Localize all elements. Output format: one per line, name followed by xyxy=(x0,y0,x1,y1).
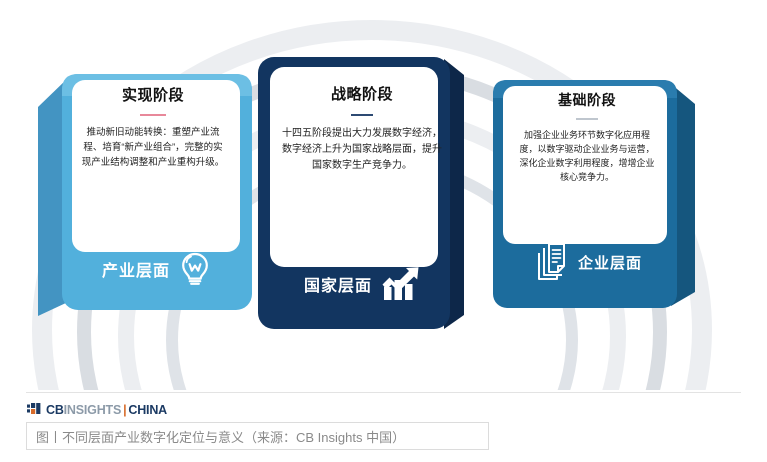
card-deck: 实现阶段 推动新旧动能转换：重塑产业流程、培育“新产业组合”，完整的实现产业结构… xyxy=(0,0,767,390)
card-a-footer: 产业层面 xyxy=(82,250,232,288)
growth-chart-icon xyxy=(380,265,422,303)
card-a-divider xyxy=(140,114,166,116)
figure-canvas: 实现阶段 推动新旧动能转换：重塑产业流程、培育“新产业组合”，完整的实现产业结构… xyxy=(0,0,767,462)
figure-caption: 图丨不同层面产业数字化定位与意义（来源：CB Insights 中国） xyxy=(26,422,489,450)
card-b-body: 十四五阶段提出大力发展数字经济，数字经济上升为国家战略层面，提升国家数字生产竞争… xyxy=(282,126,442,174)
card-industry-layer[interactable]: 实现阶段 推动新旧动能转换：重塑产业流程、培育“新产业组合”，完整的实现产业结构… xyxy=(36,62,266,322)
card-a-text-panel: 实现阶段 推动新旧动能转换：重塑产业流程、培育“新产业组合”，完整的实现产业结构… xyxy=(79,84,227,170)
card-c-body: 加强企业业务环节数字化应用程度，以数字驱动企业业务与运营，深化企业数字利用程度，… xyxy=(517,128,657,184)
card-a-footer-label: 产业层面 xyxy=(102,257,170,281)
card-b-footer-label: 国家层面 xyxy=(304,272,372,296)
logo-cb: CB xyxy=(46,403,64,417)
card-a-title: 实现阶段 xyxy=(79,84,227,105)
card-c-footer-label: 企业层面 xyxy=(578,252,642,273)
lightbulb-icon xyxy=(178,250,212,288)
logo-insights: INSIGHTS xyxy=(64,403,121,417)
card-b-divider xyxy=(351,114,373,116)
cb-insights-china-logo: CBINSIGHTS|CHINA xyxy=(27,403,167,417)
card-enterprise-layer[interactable]: 基础阶段 加强企业业务环节数字化应用程度，以数字驱动企业业务与运营，深化企业数字… xyxy=(487,70,703,320)
horizontal-divider xyxy=(26,392,741,393)
card-national-layer[interactable]: 战略阶段 十四五阶段提出大力发展数字经济，数字经济上升为国家战略层面，提升国家数… xyxy=(248,53,474,338)
figure-caption-text: 图丨不同层面产业数字化定位与意义（来源：CB Insights 中国） xyxy=(36,427,405,446)
card-b-title: 战略阶段 xyxy=(282,83,442,104)
card-c-divider xyxy=(576,118,598,120)
card-a-body: 推动新旧动能转换：重塑产业流程、培育“新产业组合”，完整的实现产业结构调整和产业… xyxy=(79,125,227,170)
logo-wordmark: CBINSIGHTS|CHINA xyxy=(46,403,167,417)
card-c-footer: 企业层面 xyxy=(507,242,671,282)
card-c-text-panel: 基础阶段 加强企业业务环节数字化应用程度，以数字驱动企业业务与运营，深化企业数字… xyxy=(517,90,657,184)
logo-china: CHINA xyxy=(128,403,167,417)
cb-insights-logo-mark xyxy=(27,401,42,419)
documents-icon xyxy=(536,242,570,282)
card-c-title: 基础阶段 xyxy=(517,90,657,110)
card-b-footer: 国家层面 xyxy=(280,265,446,303)
card-b-text-panel: 战略阶段 十四五阶段提出大力发展数字经济，数字经济上升为国家战略层面，提升国家数… xyxy=(282,83,442,174)
